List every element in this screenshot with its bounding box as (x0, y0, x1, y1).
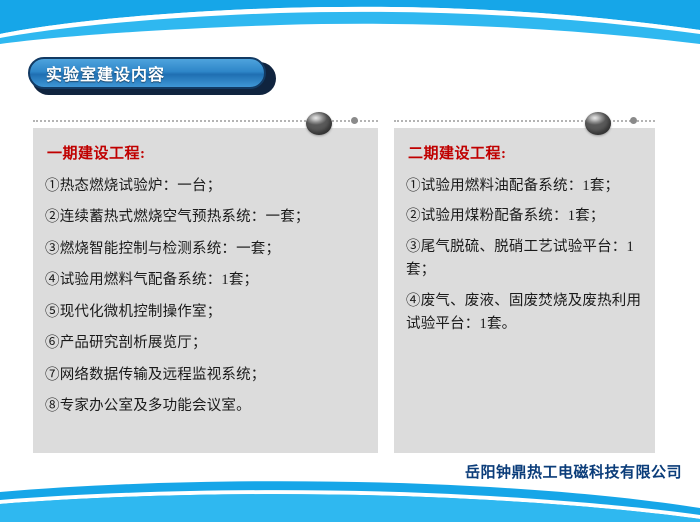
phase-two-heading: 二期建设工程: (408, 142, 643, 163)
top-swoosh-svg (0, 0, 700, 48)
phase-one-list: ①热态燃烧试验炉：一台； ②连续蓄热式燃烧空气预热系统：一套； ③燃烧智能控制与… (45, 175, 366, 419)
right-rail-decoration (394, 112, 655, 128)
slide-title-banner: 实验室建设内容 (28, 57, 276, 93)
small-dot-icon (351, 117, 358, 124)
phase-one-heading: 一期建设工程: (47, 142, 366, 163)
footer-company-name: 岳阳钟鼎热工电磁科技有限公司 (465, 461, 682, 482)
list-item: ③尾气脱硫、脱硝工艺试验平台：1套； (406, 236, 643, 283)
phase-one-panel: 一期建设工程: ①热态燃烧试验炉：一台； ②连续蓄热式燃烧空气预热系统：一套； … (33, 128, 378, 453)
list-item: ④试验用燃料气配备系统：1套； (45, 269, 366, 292)
sphere-icon (585, 112, 611, 135)
page-title: 实验室建设内容 (30, 61, 165, 85)
slide-root: 实验室建设内容 一期建设工程: ①热态燃烧试验炉：一台； ②连续蓄热式燃烧空气预… (0, 0, 700, 522)
list-item: ⑦网络数据传输及远程监视系统； (45, 364, 366, 387)
list-item: ②连续蓄热式燃烧空气预热系统：一套； (45, 206, 366, 229)
list-item: ③燃烧智能控制与检测系统：一套； (45, 238, 366, 261)
list-item: ⑥产品研究剖析展览厅； (45, 332, 366, 355)
list-item: ⑧专家办公室及多功能会议室。 (45, 395, 366, 418)
list-item: ②试验用煤粉配备系统：1套； (406, 205, 643, 228)
list-item: ①热态燃烧试验炉：一台； (45, 175, 366, 198)
bottom-swoosh-svg (0, 478, 700, 522)
left-rail-decoration (33, 112, 378, 128)
dotted-line-icon (394, 120, 655, 122)
bottom-swoosh-decoration (0, 478, 700, 522)
list-item: ④废气、废液、固废焚烧及废热利用试验平台：1套。 (406, 290, 643, 337)
title-banner-pill: 实验室建设内容 (28, 57, 266, 89)
phase-two-panel: 二期建设工程: ①试验用燃料油配备系统：1套； ②试验用煤粉配备系统：1套； ③… (394, 128, 655, 453)
small-dot-icon (630, 117, 637, 124)
list-item: ①试验用燃料油配备系统：1套； (406, 175, 643, 198)
phase-two-column: 二期建设工程: ①试验用燃料油配备系统：1套； ②试验用煤粉配备系统：1套； ③… (394, 112, 655, 453)
phase-one-column: 一期建设工程: ①热态燃烧试验炉：一台； ②连续蓄热式燃烧空气预热系统：一套； … (33, 112, 378, 453)
list-item: ⑤现代化微机控制操作室； (45, 301, 366, 324)
top-swoosh-decoration (0, 0, 700, 48)
phase-two-list: ①试验用燃料油配备系统：1套； ②试验用煤粉配备系统：1套； ③尾气脱硫、脱硝工… (406, 175, 643, 337)
sphere-icon (306, 112, 332, 135)
